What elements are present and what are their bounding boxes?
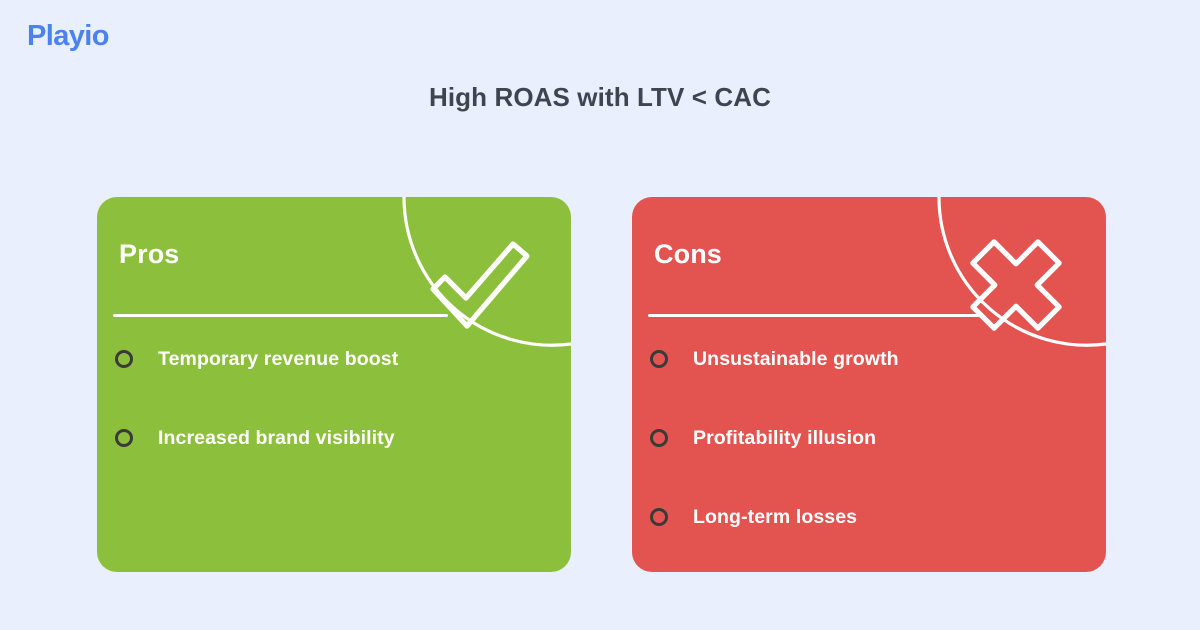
list-item: Unsustainable growth — [648, 339, 1090, 379]
bullet-ring-icon — [650, 350, 668, 368]
list-item: Increased brand visibility — [113, 418, 555, 458]
cons-list: Unsustainable growth Profitability illus… — [648, 339, 1090, 572]
bullet-ring-icon — [115, 429, 133, 447]
list-item: Profitability illusion — [648, 418, 1090, 458]
page-title: High ROAS with LTV < CAC — [0, 82, 1200, 113]
cons-card: Cons Unsustainable growth Profitability … — [632, 197, 1106, 572]
list-item-label: Long-term losses — [693, 506, 857, 529]
brand-logo[interactable]: Playio — [27, 18, 109, 56]
slide-canvas: Playio High ROAS with LTV < CAC Pros Tem… — [0, 0, 1200, 630]
list-item-label: Temporary revenue boost — [158, 348, 398, 371]
bullet-ring-icon — [650, 508, 668, 526]
list-item: Temporary revenue boost — [113, 339, 555, 379]
list-item-label: Profitability illusion — [693, 427, 876, 450]
pros-card-divider — [113, 314, 448, 317]
list-item-label: Unsustainable growth — [693, 348, 899, 371]
cons-card-title: Cons — [654, 239, 722, 270]
pros-list: Temporary revenue boost Increased brand … — [113, 339, 555, 497]
list-item: Long-term losses — [648, 497, 1090, 537]
pros-card-title: Pros — [119, 239, 179, 270]
bullet-ring-icon — [650, 429, 668, 447]
pros-card: Pros Temporary revenue boost Increased b… — [97, 197, 571, 572]
bullet-ring-icon — [115, 350, 133, 368]
list-item-label: Increased brand visibility — [158, 427, 395, 450]
cons-card-divider — [648, 314, 983, 317]
